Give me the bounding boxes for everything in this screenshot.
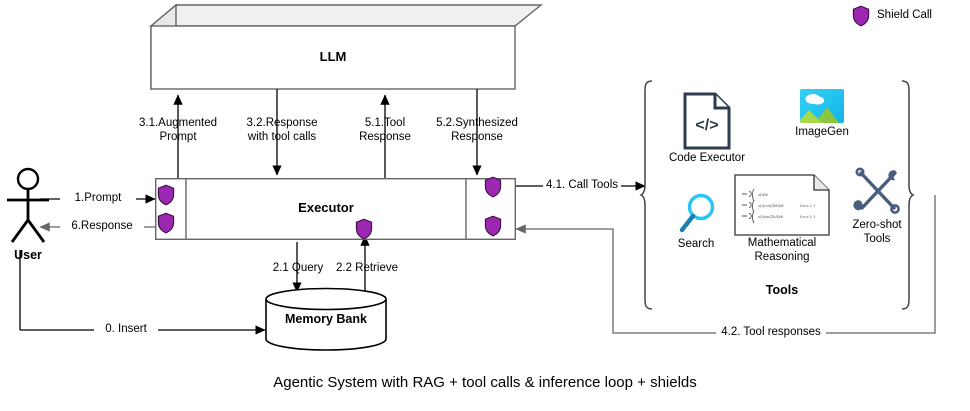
- tool-math-reasoning-label: Mathematical Reasoning: [722, 236, 842, 264]
- diagram-caption: Agentic System with RAG + tool calls & i…: [0, 374, 970, 391]
- code-document-icon: </>: [683, 92, 731, 150]
- edge-label-query: 2.1 Query: [269, 262, 327, 276]
- memory-bank-label: Memory Bank: [265, 312, 387, 326]
- shield-icon-executor-out: [157, 212, 175, 234]
- retrieve-text: 2.2 Retrieve: [336, 262, 398, 274]
- zero-shot-line1: Zero-shot: [852, 219, 901, 231]
- edge-label-call-tools: 4.1. Call Tools: [543, 179, 621, 193]
- synth-response-line2: Response: [451, 131, 503, 143]
- tool-response-line2: Response: [359, 131, 411, 143]
- tool-imagegen-label: ImageGen: [770, 126, 874, 140]
- crossed-tools-icon: [852, 166, 904, 216]
- executor-node[interactable]: Executor: [155, 178, 516, 240]
- insert-text: 0. Insert: [105, 323, 147, 335]
- zero-shot-line2: Tools: [864, 233, 891, 245]
- svg-text:for n ≥ 1: for n ≥ 1: [800, 203, 815, 208]
- edge-label-prompt: 1.Prompt: [60, 192, 136, 206]
- shield-icon: [852, 5, 870, 27]
- tool-code-executor-label: Code Executor: [652, 152, 762, 166]
- tool-math-reasoning[interactable]: x(t)dtx(t)cos(2kft)dtx(t)sin(2kft)dt for…: [722, 174, 842, 258]
- shield-icon-executor-tools-out: [484, 176, 502, 198]
- edge-label-augmented-prompt: 3.1.Augmented Prompt: [136, 116, 220, 144]
- edge-label-response-tool-calls: 3.2.Response with tool calls: [236, 116, 328, 144]
- shield-icon-executor-memory: [355, 218, 373, 240]
- svg-text:x(t)cos(2kft)dt: x(t)cos(2kft)dt: [758, 203, 784, 208]
- edge-label-tool-responses: 4.2. Tool responses: [716, 326, 826, 340]
- tool-responses-text: 4.2. Tool responses: [721, 326, 821, 338]
- math-line1: Mathematical: [748, 237, 816, 249]
- legend: Shield Call: [852, 5, 932, 27]
- tools-group-label: Tools: [722, 283, 842, 297]
- svg-text:for n ≥ 1: for n ≥ 1: [800, 214, 815, 219]
- tool-code-executor[interactable]: </> Code Executor: [652, 92, 762, 168]
- edge-label-insert: 0. Insert: [94, 323, 158, 337]
- edge-label-response: 6.Response: [60, 220, 144, 234]
- svg-text:</>: </>: [695, 117, 718, 134]
- user-label: User: [4, 248, 52, 262]
- llm-label: LLM: [150, 49, 516, 64]
- memory-bank-node[interactable]: Memory Bank: [265, 288, 387, 350]
- svg-text:x(t)dt: x(t)dt: [758, 192, 769, 197]
- tool-imagegen[interactable]: ImageGen: [770, 88, 874, 146]
- edge-label-tool-response: 5.1.Tool Response: [345, 116, 425, 144]
- shield-icon-executor-tools-in: [484, 215, 502, 237]
- math-line2: Reasoning: [755, 251, 810, 263]
- query-text: 2.1 Query: [273, 262, 324, 274]
- magnifier-icon: [677, 192, 717, 236]
- user-icon: [4, 168, 64, 246]
- augmented-prompt-line1: 3.1.Augmented: [139, 117, 217, 129]
- augmented-prompt-line2: Prompt: [159, 131, 196, 143]
- shield-icon-executor-in: [157, 184, 175, 206]
- llm-node[interactable]: LLM: [150, 4, 540, 89]
- image-icon: [799, 88, 845, 124]
- svg-text:x(t)sin(2kft)dt: x(t)sin(2kft)dt: [758, 214, 784, 219]
- user-node[interactable]: User: [4, 168, 64, 263]
- call-tools-text: 4.1. Call Tools: [546, 179, 618, 191]
- legend-label: Shield Call: [877, 9, 932, 23]
- executor-label: Executor: [186, 200, 466, 215]
- edge-label-synthesized-response: 5.2.Synthesized Response: [428, 116, 526, 144]
- formula-document-icon: x(t)dtx(t)cos(2kft)dtx(t)sin(2kft)dt for…: [734, 174, 830, 236]
- resp-tool-calls-line2: with tool calls: [248, 131, 316, 143]
- tool-zero-shot-label: Zero-shot Tools: [838, 218, 916, 246]
- tool-zero-shot[interactable]: Zero-shot Tools: [838, 166, 916, 236]
- edge-label-retrieve: 2.2 Retrieve: [332, 262, 402, 276]
- tool-response-line1: 5.1.Tool: [365, 117, 405, 129]
- synth-response-line1: 5.2.Synthesized: [436, 117, 518, 129]
- resp-tool-calls-line1: 3.2.Response: [247, 117, 318, 129]
- prompt-text: 1.Prompt: [75, 192, 122, 204]
- response-text: 6.Response: [71, 220, 132, 232]
